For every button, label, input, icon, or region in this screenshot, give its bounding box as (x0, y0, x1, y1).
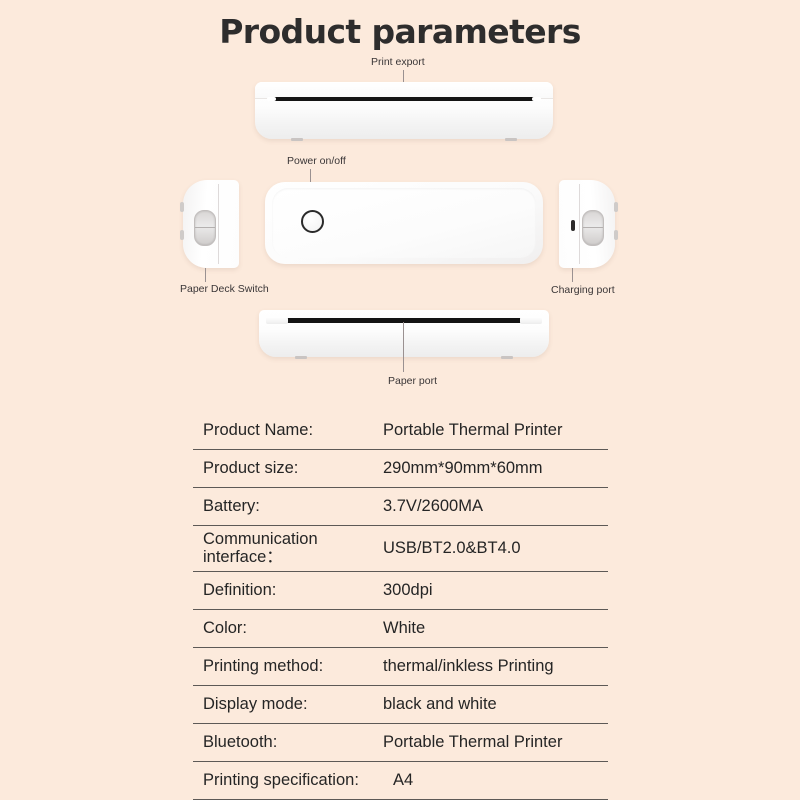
callout-label-paper-port: Paper port (388, 375, 437, 387)
paper-port-slot (272, 318, 536, 323)
specification-table: Product Name: Portable Thermal Printer P… (193, 412, 608, 800)
table-row: Definition: 300dpi (193, 572, 608, 610)
spec-value: Portable Thermal Printer (383, 733, 608, 751)
charging-port-opening (571, 220, 575, 231)
printer-front-view (255, 82, 553, 139)
printer-foot (501, 356, 513, 359)
table-row: Product size: 290mm*90mm*60mm (193, 450, 608, 488)
table-row: Color: White (193, 610, 608, 648)
case-seam (218, 184, 219, 264)
spec-value: thermal/inkless Printing (383, 657, 608, 675)
print-export-slot (269, 97, 539, 101)
printer-right-side-view (559, 180, 615, 268)
spec-value: White (383, 619, 608, 637)
table-row: Battery: 3.7V/2600MA (193, 488, 608, 526)
spec-value: 290mm*90mm*60mm (383, 459, 608, 477)
spec-value: A4 (393, 771, 608, 789)
product-diagram: Print export Power on/off Paper Deck Swi… (0, 0, 800, 400)
spec-label: Definition: (193, 581, 383, 599)
printer-foot (291, 138, 303, 141)
spec-value: USB/BT2.0&BT4.0 (383, 539, 608, 557)
leader-line-paper-port (403, 322, 404, 372)
printer-foot (295, 356, 307, 359)
side-tab (614, 202, 618, 212)
side-tab (180, 230, 184, 240)
spec-label: Bluetooth: (193, 733, 383, 751)
printer-top-view (265, 182, 543, 264)
table-row: Display mode: black and white (193, 686, 608, 724)
leader-line-charging-port (572, 268, 573, 282)
spec-value: 300dpi (383, 581, 608, 599)
table-row: Printing method: thermal/inkless Printin… (193, 648, 608, 686)
spec-value: black and white (383, 695, 608, 713)
spec-value: Portable Thermal Printer (383, 421, 608, 439)
leader-line-paper-deck-switch (205, 268, 206, 282)
side-tab (614, 230, 618, 240)
paper-deck-switch-control (194, 210, 216, 246)
spec-label: Product size: (193, 459, 383, 477)
spec-label: Printing method: (193, 657, 383, 675)
printer-foot (505, 138, 517, 141)
power-button-icon (301, 210, 324, 233)
table-row: Printing specification: A4 (193, 762, 608, 800)
printer-bottom-view (259, 310, 549, 357)
table-row: Product Name: Portable Thermal Printer (193, 412, 608, 450)
table-row: Bluetooth: Portable Thermal Printer (193, 724, 608, 762)
callout-label-print-export: Print export (371, 56, 425, 68)
case-seam (579, 184, 580, 264)
callout-label-power-on-off: Power on/off (287, 155, 346, 167)
spec-label: Printing specification: (193, 771, 393, 789)
spec-value: 3.7V/2600MA (383, 497, 608, 515)
spec-label: Color: (193, 619, 383, 637)
spec-label: Battery: (193, 497, 383, 515)
spec-label: Product Name: (193, 421, 383, 439)
callout-label-charging-port: Charging port (551, 284, 615, 296)
callout-label-paper-deck-switch: Paper Deck Switch (180, 283, 269, 295)
printer-left-side-view (183, 180, 239, 268)
paper-deck-switch-control (582, 210, 604, 246)
side-tab (180, 202, 184, 212)
spec-label: Display mode: (193, 695, 383, 713)
table-row: Communication interface： USB/BT2.0&BT4.0 (193, 526, 608, 572)
spec-label: Communication interface： (193, 530, 383, 567)
